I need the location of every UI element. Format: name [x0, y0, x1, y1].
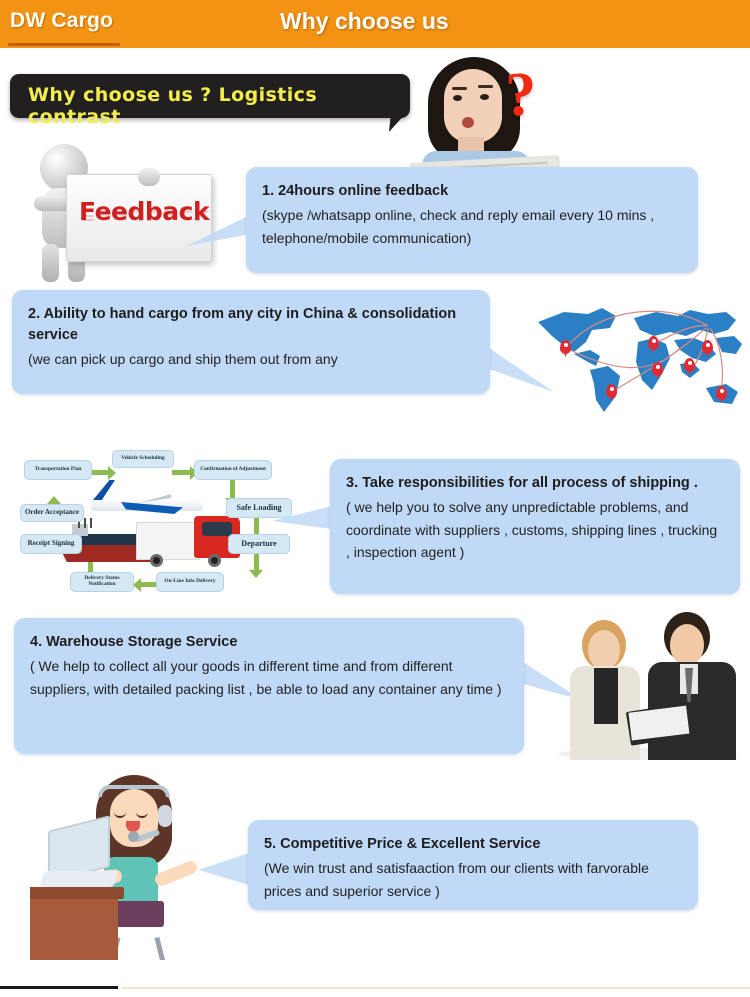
map-pin-7 [716, 386, 727, 400]
flow-node-delivery-status-notification: Delivery Status Notification [70, 572, 134, 592]
flow-node-safe-loading: Safe Loading [226, 498, 292, 518]
flow-node-transportation-plan: Transportation Plan [24, 460, 92, 480]
chair-leg-right [154, 937, 166, 960]
figure-leg-left [42, 244, 59, 282]
headset-earpiece-icon [158, 805, 172, 827]
call-center-agent-image [30, 775, 240, 960]
footer-rule-tan [122, 987, 750, 989]
map-pin-4 [652, 362, 663, 376]
woman-eyebrow-right [478, 85, 493, 88]
map-pin-2 [606, 384, 617, 398]
map-pin-3 [648, 336, 659, 350]
confused-woman-photo [410, 55, 570, 180]
callout-body-1: (skype /whatsapp online, check and reply… [262, 204, 682, 249]
woman-face [444, 69, 502, 143]
brand-underline [8, 43, 120, 46]
flow-arrow-4 [254, 518, 259, 534]
businessman-face [670, 624, 704, 666]
headline-banner-text: Why choose us ? Logistics contrast [28, 84, 410, 128]
brand-logo: DW Cargo [10, 9, 113, 33]
world-map-image [530, 300, 745, 418]
desk [30, 893, 118, 960]
flow-arrow-5 [254, 554, 259, 570]
flow-node-order-acceptance: Order Acceptance [20, 504, 84, 522]
callout-body-3: ( we help you to solve any unpredictable… [346, 496, 724, 564]
headline-banner: Why choose us ? Logistics contrast [10, 74, 410, 118]
flow-arrowhead-8 [47, 496, 61, 504]
callout-heading-4: 4. Warehouse Storage Service [30, 632, 508, 653]
flow-node-online-info-delivery: On-Line Info Delivery [156, 572, 224, 592]
callout-body-4: ( We help to collect all your goods in d… [30, 655, 508, 700]
page-header: DW Cargo Why choose us [0, 0, 750, 48]
business-people-photo [552, 608, 750, 760]
page-root: DW Cargo Why choose us Why choose us ? L… [0, 0, 750, 997]
headset-band-icon [98, 785, 170, 797]
question-mark-icon: ? [505, 60, 536, 131]
footer-rule-dark [0, 986, 118, 989]
desk-top [30, 887, 124, 899]
callout-box-3: 3. Take responsibilities for all process… [330, 459, 740, 594]
callout-heading-3: 3. Take responsibilities for all process… [346, 473, 724, 494]
feedback-sign: Feedback Feedback [66, 174, 212, 262]
flow-arrowhead-5 [249, 570, 263, 578]
page-title: Why choose us [280, 8, 449, 35]
flow-arrowhead-6 [133, 578, 141, 592]
flow-arrow-3 [230, 480, 235, 498]
flow-node-vehicle-scheduling: Vehicle Scheduling [112, 450, 174, 468]
woman-eye-left [453, 95, 462, 101]
map-pin-1 [560, 340, 571, 354]
callout-box-5: 5. Competitive Price & Excellent Service… [248, 820, 698, 910]
callout-box-4: 4. Warehouse Storage Service ( We help t… [14, 618, 524, 754]
flow-arrow-2 [172, 470, 190, 475]
businesswoman-face [588, 630, 620, 670]
businesswoman-top [594, 668, 618, 724]
world-map-svg [530, 300, 745, 418]
callout-body-2: (we can pick up cargo and ship them out … [28, 348, 474, 371]
callout-heading-2: 2. Ability to hand cargo from any city i… [28, 304, 474, 346]
figure-hand [138, 168, 160, 186]
headline-banner-tail [389, 112, 407, 132]
woman-eyebrow-left [452, 87, 467, 90]
agent-arm-right [153, 859, 199, 888]
headset-mic-icon [128, 831, 139, 842]
map-pin-5 [684, 358, 695, 372]
callout-box-1: 1. 24hours online feedback (skype /whats… [246, 167, 698, 273]
logistics-flowchart-image: Transportation Plan Vehicle Scheduling C… [16, 448, 316, 600]
callout-heading-1: 1. 24hours online feedback [262, 181, 682, 202]
callout-heading-5: 5. Competitive Price & Excellent Service [264, 834, 682, 855]
callout-box-2: 2. Ability to hand cargo from any city i… [12, 290, 490, 394]
flow-arrow-6 [140, 582, 156, 587]
flow-node-receipt-signing: Receipt Signing [20, 534, 82, 554]
feedback-sign-reflection: Feedback [79, 207, 209, 223]
laptop-keyboard [39, 871, 118, 887]
flow-node-departure: Departure [228, 534, 290, 554]
woman-eye-right [480, 94, 489, 100]
map-pin-6 [702, 340, 713, 354]
callout-body-5: (We win trust and satisfaaction from our… [264, 857, 682, 902]
woman-mouth [462, 117, 474, 128]
feedback-figure-image: Feedback Feedback [18, 140, 218, 285]
flow-arrow-1 [90, 470, 108, 475]
flow-node-confirmation-of-adjustment: Confirmation of Adjustment [194, 460, 272, 480]
